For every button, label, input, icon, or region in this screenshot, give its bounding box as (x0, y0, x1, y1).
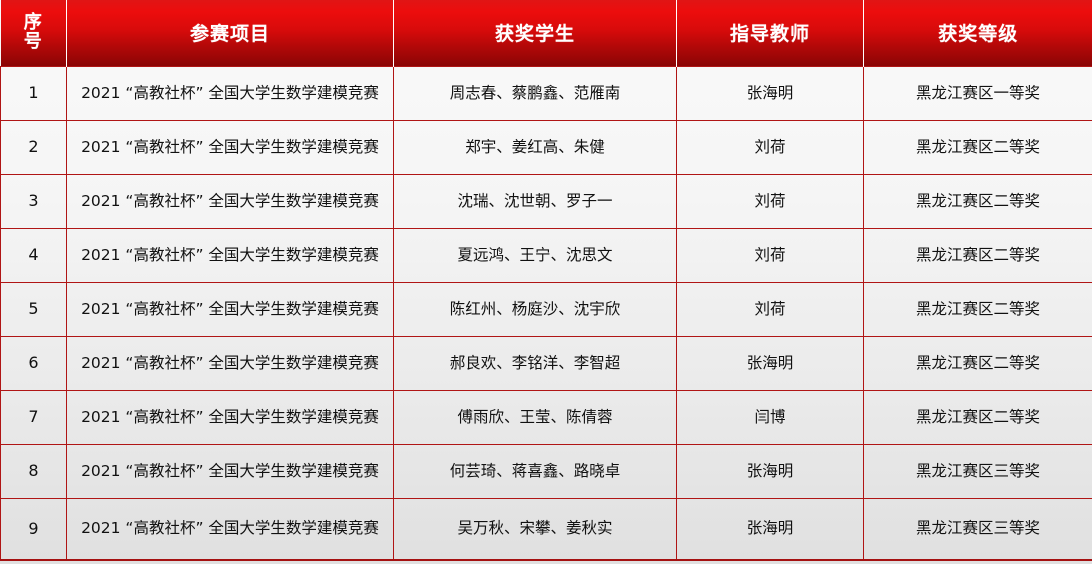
cell-project: 2021 “高教社杯” 全国大学生数学建模竞赛 (67, 120, 394, 174)
cell-grade: 黑龙江赛区三等奖 (864, 444, 1092, 498)
table-header: 序 号 参赛项目 获奖学生 指导教师 获奖等级 (1, 0, 1092, 66)
cell-grade: 黑龙江赛区二等奖 (864, 120, 1092, 174)
cell-grade: 黑龙江赛区二等奖 (864, 174, 1092, 228)
cell-teacher: 刘荷 (677, 120, 864, 174)
cell-teacher: 张海明 (677, 498, 864, 560)
cell-sequence: 1 (1, 66, 67, 120)
cell-sequence: 5 (1, 282, 67, 336)
column-header-project: 参赛项目 (67, 0, 394, 66)
cell-students: 郑宇、姜红高、朱健 (394, 120, 677, 174)
cell-project: 2021 “高教社杯” 全国大学生数学建模竞赛 (67, 390, 394, 444)
cell-grade: 黑龙江赛区二等奖 (864, 390, 1092, 444)
cell-students: 夏远鸿、王宁、沈思文 (394, 228, 677, 282)
table-row: 7 2021 “高教社杯” 全国大学生数学建模竞赛 傅雨欣、王莹、陈倩蓉 闫博 … (1, 390, 1092, 444)
cell-project: 2021 “高教社杯” 全国大学生数学建模竞赛 (67, 498, 394, 560)
cell-project: 2021 “高教社杯” 全国大学生数学建模竞赛 (67, 282, 394, 336)
cell-sequence: 4 (1, 228, 67, 282)
cell-teacher: 刘荷 (677, 174, 864, 228)
table-row: 9 2021 “高教社杯” 全国大学生数学建模竞赛 吴万秋、宋攀、姜秋实 张海明… (1, 498, 1092, 560)
cell-students: 沈瑞、沈世朝、罗子一 (394, 174, 677, 228)
cell-students: 陈红州、杨庭沙、沈宇欣 (394, 282, 677, 336)
table-row: 4 2021 “高教社杯” 全国大学生数学建模竞赛 夏远鸿、王宁、沈思文 刘荷 … (1, 228, 1092, 282)
cell-project: 2021 “高教社杯” 全国大学生数学建模竞赛 (67, 444, 394, 498)
table-body: 1 2021 “高教社杯” 全国大学生数学建模竞赛 周志春、蔡鹏鑫、范雁南 张海… (1, 66, 1092, 560)
column-header-sequence: 序 号 (1, 0, 67, 66)
cell-grade: 黑龙江赛区二等奖 (864, 336, 1092, 390)
table-row: 8 2021 “高教社杯” 全国大学生数学建模竞赛 何芸琦、蒋喜鑫、路晓卓 张海… (1, 444, 1092, 498)
table-row: 5 2021 “高教社杯” 全国大学生数学建模竞赛 陈红州、杨庭沙、沈宇欣 刘荷… (1, 282, 1092, 336)
table-row: 1 2021 “高教社杯” 全国大学生数学建模竞赛 周志春、蔡鹏鑫、范雁南 张海… (1, 66, 1092, 120)
cell-grade: 黑龙江赛区二等奖 (864, 228, 1092, 282)
table-header-row: 序 号 参赛项目 获奖学生 指导教师 获奖等级 (1, 0, 1092, 66)
cell-project: 2021 “高教社杯” 全国大学生数学建模竞赛 (67, 336, 394, 390)
table-row: 3 2021 “高教社杯” 全国大学生数学建模竞赛 沈瑞、沈世朝、罗子一 刘荷 … (1, 174, 1092, 228)
cell-students: 郝良欢、李铭洋、李智超 (394, 336, 677, 390)
cell-students: 周志春、蔡鹏鑫、范雁南 (394, 66, 677, 120)
cell-grade: 黑龙江赛区一等奖 (864, 66, 1092, 120)
cell-students: 傅雨欣、王莹、陈倩蓉 (394, 390, 677, 444)
cell-project: 2021 “高教社杯” 全国大学生数学建模竞赛 (67, 228, 394, 282)
table-row: 6 2021 “高教社杯” 全国大学生数学建模竞赛 郝良欢、李铭洋、李智超 张海… (1, 336, 1092, 390)
column-header-sequence-line1: 序 (5, 14, 63, 33)
award-records-table: 序 号 参赛项目 获奖学生 指导教师 获奖等级 1 2021 “高教社杯” 全国… (0, 0, 1092, 561)
cell-teacher: 闫博 (677, 390, 864, 444)
cell-sequence: 6 (1, 336, 67, 390)
column-header-sequence-line2: 号 (5, 33, 63, 52)
cell-teacher: 刘荷 (677, 228, 864, 282)
cell-grade: 黑龙江赛区三等奖 (864, 498, 1092, 560)
cell-sequence: 8 (1, 444, 67, 498)
cell-sequence: 2 (1, 120, 67, 174)
award-table-container: 序 号 参赛项目 获奖学生 指导教师 获奖等级 1 2021 “高教社杯” 全国… (0, 0, 1092, 564)
table-row: 2 2021 “高教社杯” 全国大学生数学建模竞赛 郑宇、姜红高、朱健 刘荷 黑… (1, 120, 1092, 174)
cell-teacher: 张海明 (677, 66, 864, 120)
cell-students: 吴万秋、宋攀、姜秋实 (394, 498, 677, 560)
cell-project: 2021 “高教社杯” 全国大学生数学建模竞赛 (67, 174, 394, 228)
cell-grade: 黑龙江赛区二等奖 (864, 282, 1092, 336)
cell-project: 2021 “高教社杯” 全国大学生数学建模竞赛 (67, 66, 394, 120)
column-header-grade: 获奖等级 (864, 0, 1092, 66)
cell-teacher: 刘荷 (677, 282, 864, 336)
cell-students: 何芸琦、蒋喜鑫、路晓卓 (394, 444, 677, 498)
column-header-teacher: 指导教师 (677, 0, 864, 66)
cell-sequence: 9 (1, 498, 67, 560)
cell-sequence: 3 (1, 174, 67, 228)
column-header-students: 获奖学生 (394, 0, 677, 66)
cell-sequence: 7 (1, 390, 67, 444)
cell-teacher: 张海明 (677, 336, 864, 390)
cell-teacher: 张海明 (677, 444, 864, 498)
